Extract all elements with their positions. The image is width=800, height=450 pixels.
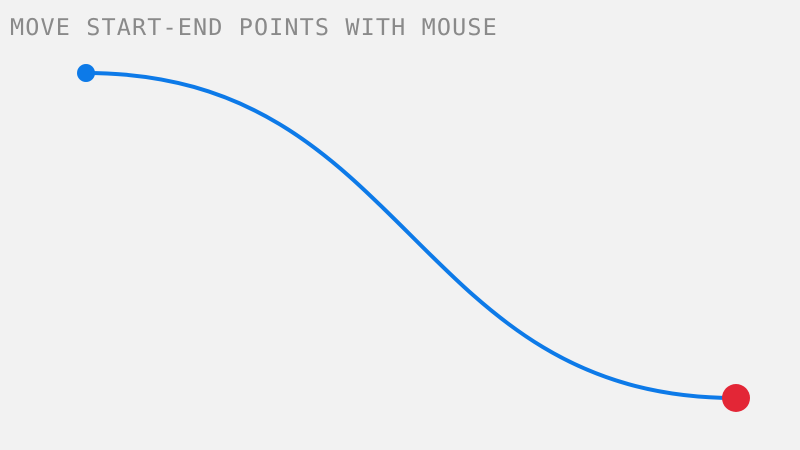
curve-stage[interactable] [0, 0, 800, 450]
start-point-handle[interactable] [77, 64, 95, 82]
bezier-curve-path [86, 73, 736, 398]
bezier-curve-canvas[interactable] [0, 0, 800, 450]
end-point-handle[interactable] [722, 384, 750, 412]
app-canvas: MOVE START-END POINTS WITH MOUSE [0, 0, 800, 450]
